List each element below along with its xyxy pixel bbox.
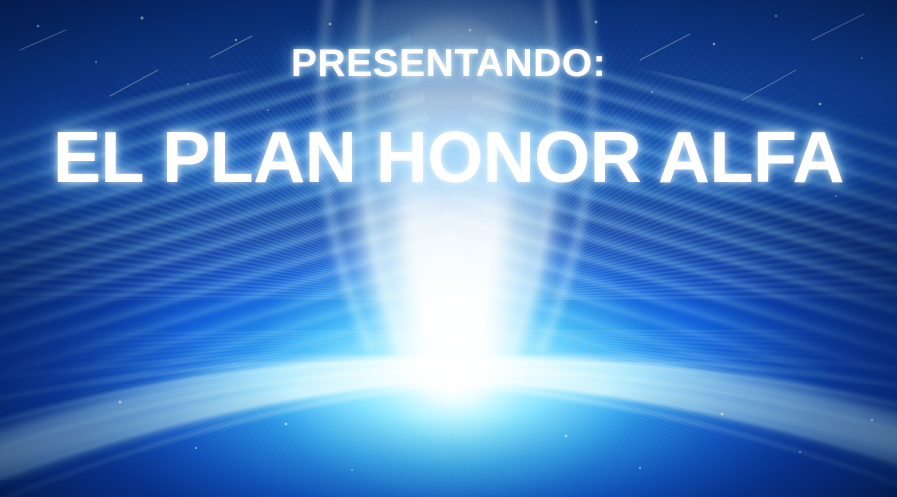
page-title: EL PLAN HONOR ALFA	[0, 122, 897, 194]
text-overlay: PRESENTANDO: EL PLAN HONOR ALFA	[0, 0, 897, 497]
presentation-slide: PRESENTANDO: EL PLAN HONOR ALFA	[0, 0, 897, 497]
kicker-text: PRESENTANDO:	[0, 44, 897, 83]
